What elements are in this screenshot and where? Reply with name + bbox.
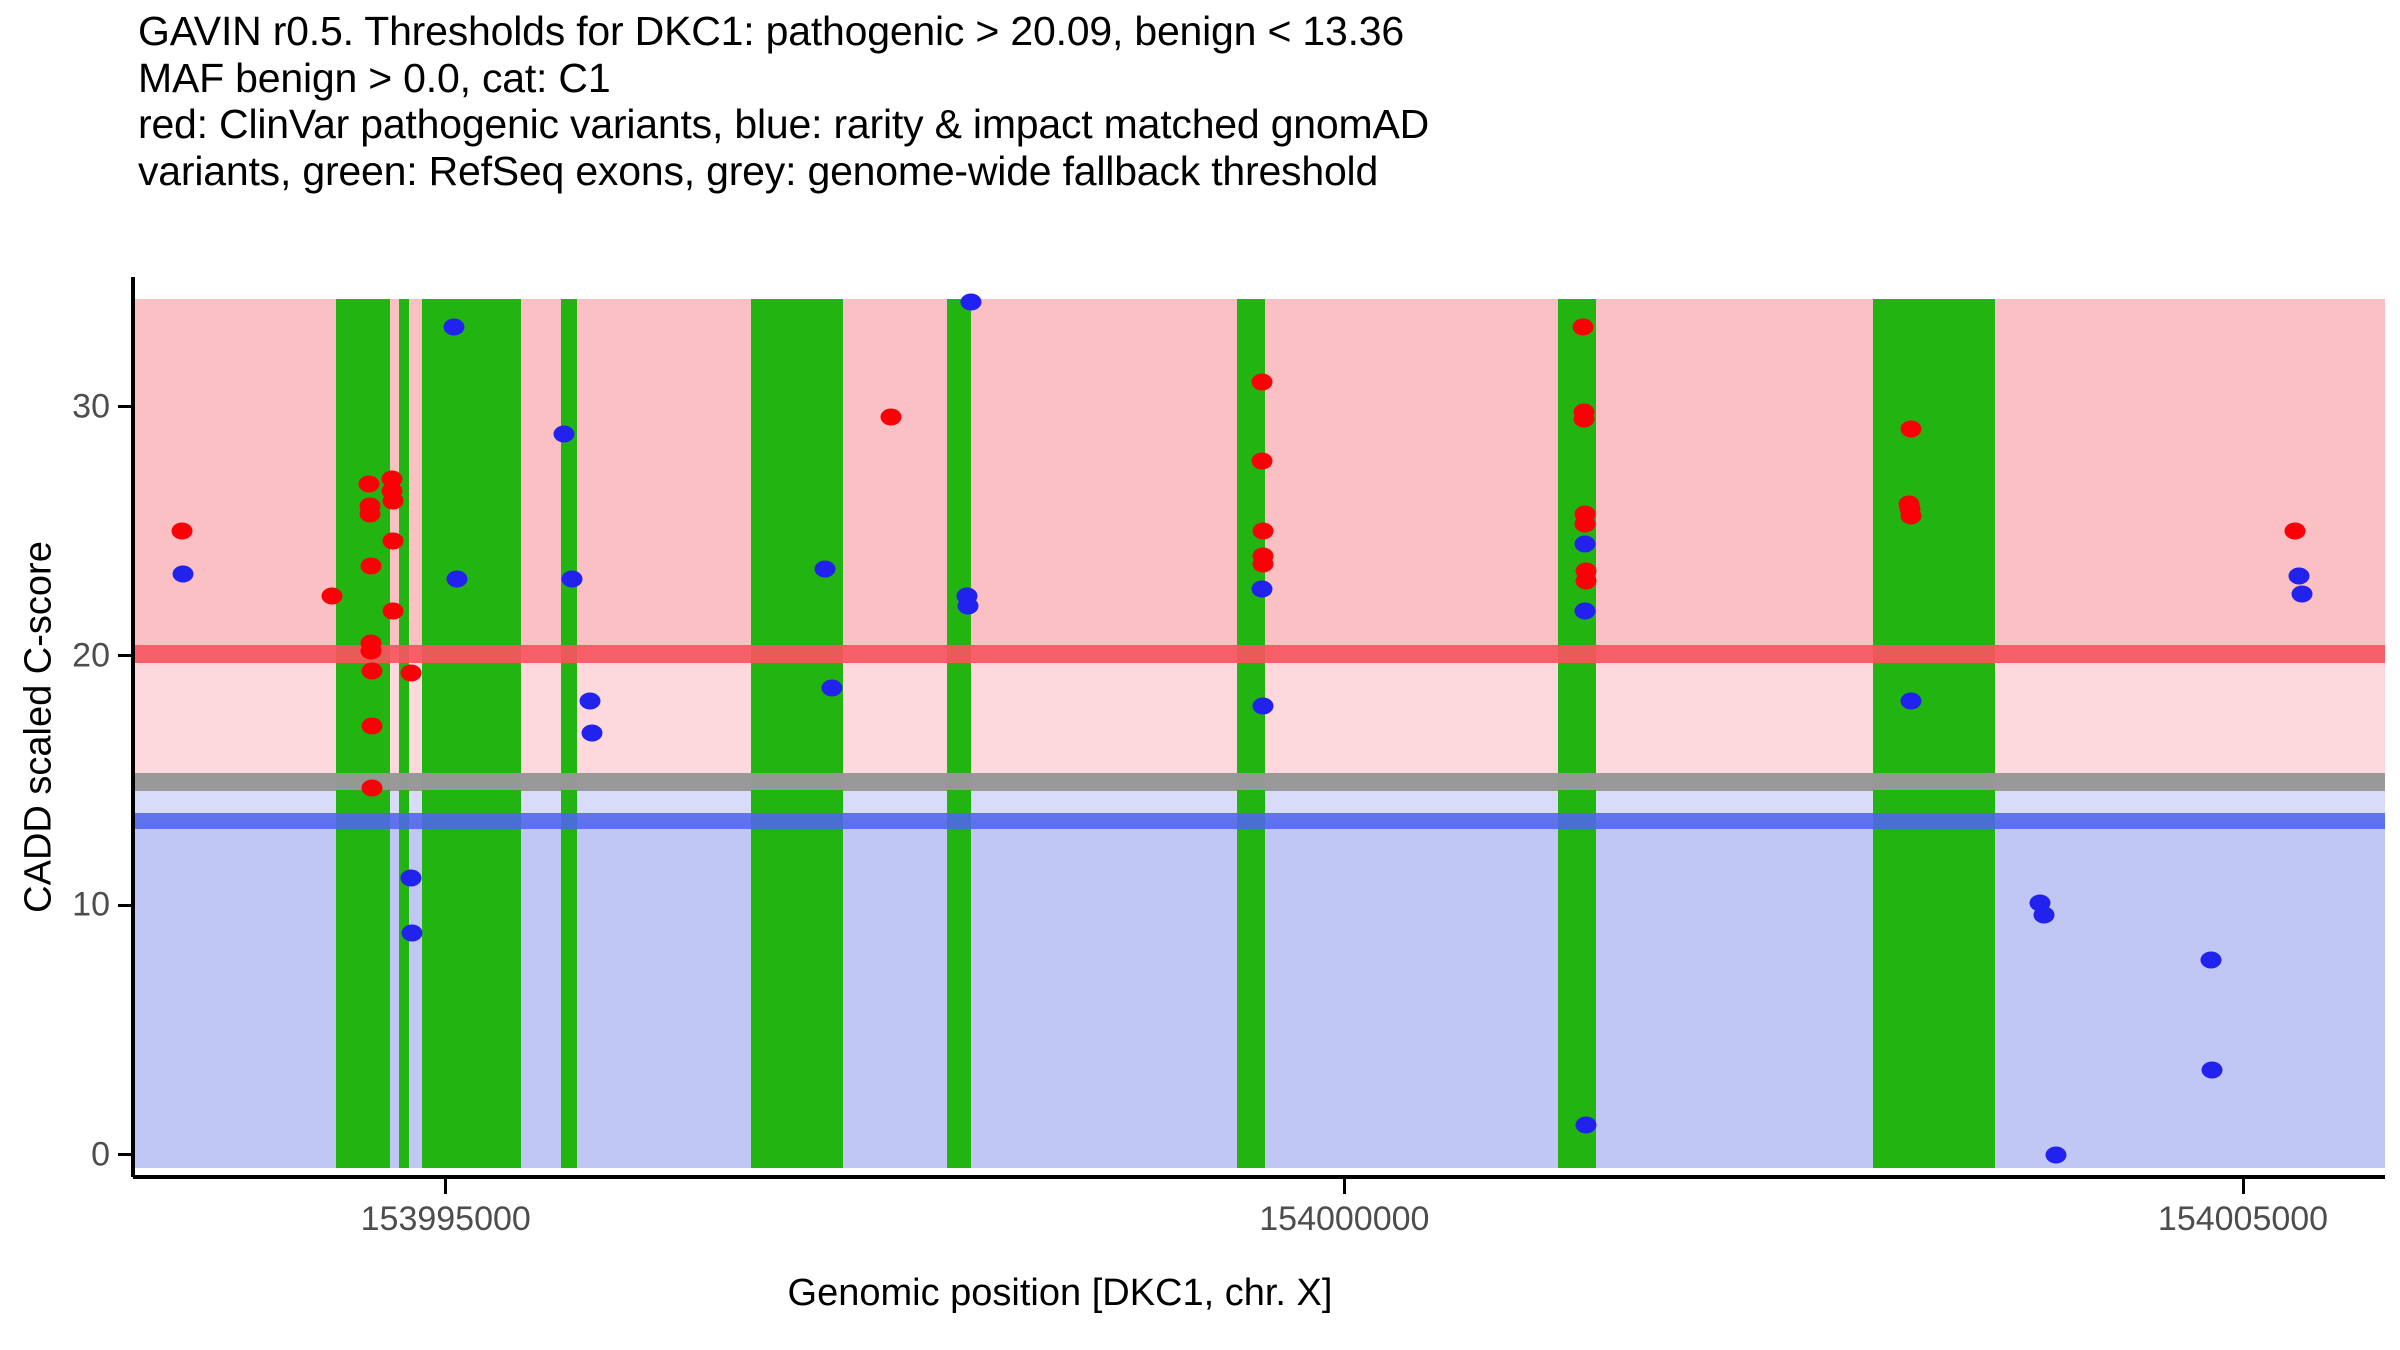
- pathogenic-variant-point: [1251, 373, 1272, 390]
- benign-variant-point: [401, 924, 422, 941]
- pathogenic-variant-point: [360, 505, 381, 522]
- title-line-2: MAF benign > 0.0, cat: C1: [138, 55, 2338, 102]
- y-axis-tick: [118, 654, 133, 657]
- pathogenic-variant-point: [361, 662, 382, 679]
- benign-variant-point: [1575, 603, 1596, 620]
- y-axis-tick: [118, 405, 133, 408]
- plot-panel: [133, 277, 2385, 1177]
- benign-variant-point: [822, 680, 843, 697]
- y-axis-line: [131, 277, 135, 1177]
- pathogenic-variant-point: [1900, 421, 1921, 438]
- pathogenic-variant-point: [382, 533, 403, 550]
- benign-variant-point: [400, 869, 421, 886]
- pathogenic-variant-point: [1575, 515, 1596, 532]
- y-axis-tick-label: 30: [0, 387, 110, 426]
- title-line-1: GAVIN r0.5. Thresholds for DKC1: pathoge…: [138, 8, 2338, 55]
- pathogenic-variant-point: [1253, 555, 1274, 572]
- x-axis-tick: [444, 1179, 447, 1194]
- pathogenic-variant-point: [2285, 523, 2306, 540]
- pathogenic-variant-point: [1573, 318, 1594, 335]
- pathogenic-variant-point: [383, 603, 404, 620]
- benign-variant-point: [957, 598, 978, 615]
- x-axis-tick-label: 154005000: [2158, 1200, 2328, 1239]
- y-axis-title: CADD scaled C-score: [18, 541, 61, 913]
- benign-variant-point: [1901, 692, 1922, 709]
- pathogenic-variant-point: [1574, 411, 1595, 428]
- benign-variant-point: [554, 426, 575, 443]
- pathogenic-variant-point: [321, 588, 342, 605]
- benign-variant-point: [2288, 568, 2309, 585]
- exon-band: [336, 299, 390, 1168]
- pathogenic-variant-point: [360, 558, 381, 575]
- benign-variant-point: [960, 293, 981, 310]
- x-axis-line: [133, 1175, 2385, 1179]
- y-axis-tick: [118, 1153, 133, 1156]
- pathogenic-variant-point: [1575, 573, 1596, 590]
- pathogenic-variant-point: [1252, 523, 1273, 540]
- exon-band: [751, 299, 843, 1168]
- x-axis-tick: [2242, 1179, 2245, 1194]
- benign-variant-point: [582, 725, 603, 742]
- x-axis-tick: [1343, 1179, 1346, 1194]
- pathogenic-variant-point: [362, 717, 383, 734]
- y-axis-title-wrap: CADD scaled C-score: [40, 0, 41, 1350]
- benign-variant-point: [446, 570, 467, 587]
- benign-variant-point: [1574, 535, 1595, 552]
- x-axis-title-text: Genomic position [DKC1, chr. X]: [788, 1272, 1333, 1314]
- title-line-3: red: ClinVar pathogenic variants, blue: …: [138, 101, 2338, 148]
- exon-band: [1873, 299, 1995, 1168]
- benign-variant-point: [443, 318, 464, 335]
- exon-band: [399, 299, 409, 1168]
- pathogenic-variant-point: [361, 642, 382, 659]
- benign-threshold-line: [133, 813, 2385, 829]
- benign-variant-point: [2046, 1146, 2067, 1163]
- pathogenic-variant-point: [382, 493, 403, 510]
- benign-variant-point: [1576, 1116, 1597, 1133]
- benign-variant-point: [2200, 952, 2221, 969]
- x-axis-tick-label: 154000000: [1259, 1200, 1429, 1239]
- pathogenic-variant-point: [1252, 453, 1273, 470]
- benign-variant-point: [1251, 580, 1272, 597]
- benign-variant-point: [580, 692, 601, 709]
- pathogenic-variant-point: [400, 665, 421, 682]
- pathogenic-variant-point: [362, 780, 383, 797]
- benign-variant-point: [2033, 907, 2054, 924]
- exon-band: [1558, 299, 1596, 1168]
- pathogenic-variant-point: [881, 408, 902, 425]
- benign-variant-point: [1252, 697, 1273, 714]
- title-line-4: variants, green: RefSeq exons, grey: gen…: [138, 148, 2338, 195]
- x-axis-tick-label: 153995000: [361, 1200, 531, 1239]
- benign-variant-point: [561, 570, 582, 587]
- plot-root: GAVIN r0.5. Thresholds for DKC1: pathoge…: [0, 0, 2400, 1350]
- y-axis-tick: [118, 904, 133, 907]
- benign-variant-point: [173, 565, 194, 582]
- exon-band: [947, 299, 971, 1168]
- benign-variant-point: [2292, 585, 2313, 602]
- y-axis-tick-label: 0: [0, 1135, 110, 1174]
- plot-title-block: GAVIN r0.5. Thresholds for DKC1: pathoge…: [138, 8, 2338, 194]
- pathogenic-threshold-line: [133, 645, 2385, 663]
- benign-variant-point: [2202, 1061, 2223, 1078]
- benign-variant-point: [814, 560, 835, 577]
- fallback-threshold-line: [133, 773, 2385, 790]
- x-axis-title: Genomic position [DKC1, chr. X]: [0, 1272, 2400, 1315]
- exon-band: [422, 299, 521, 1168]
- pathogenic-variant-point: [171, 523, 192, 540]
- exon-band: [1237, 299, 1266, 1168]
- pathogenic-variant-point: [359, 475, 380, 492]
- pathogenic-variant-point: [1900, 508, 1921, 525]
